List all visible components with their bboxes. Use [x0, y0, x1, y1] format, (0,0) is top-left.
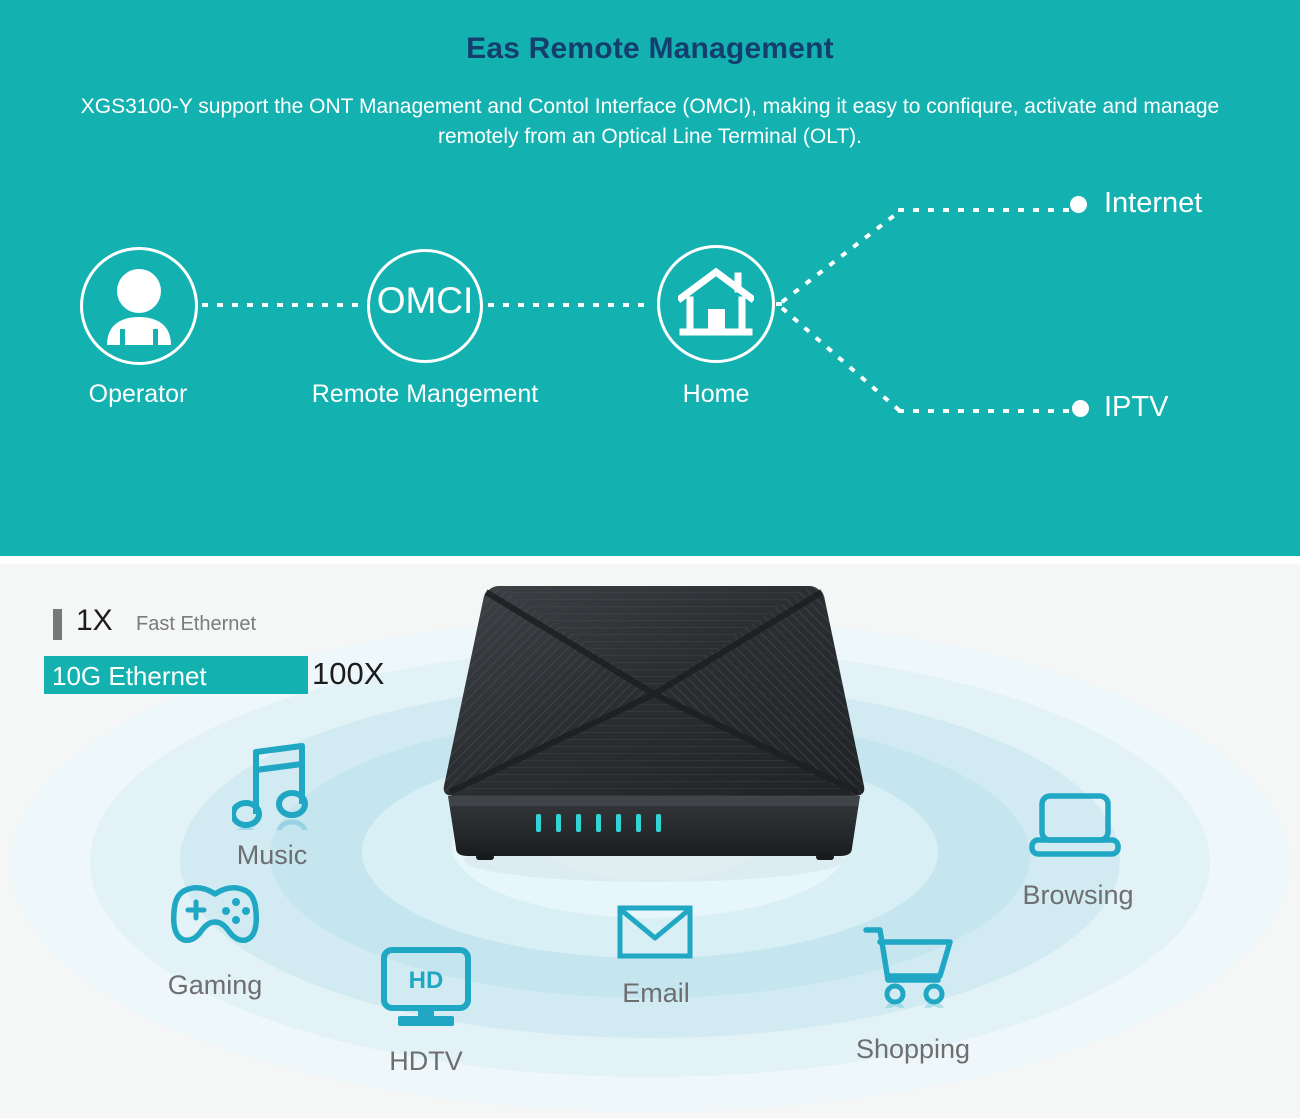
router-device-image — [404, 564, 904, 884]
feature-email[interactable]: Email — [616, 902, 716, 1022]
ten-g-ethernet-name: 10G Ethernet — [52, 661, 207, 692]
page-title: Eas Remote Management — [0, 32, 1300, 66]
hdtv-label: HDTV — [364, 1046, 488, 1077]
omci-label: OMCI — [367, 280, 483, 322]
person-icon — [102, 267, 176, 347]
speed-row-10g-ethernet: 10G Ethernet 100X — [44, 656, 464, 698]
envelope-icon — [616, 902, 694, 962]
feature-browsing[interactable]: Browsing — [1028, 792, 1128, 922]
fast-ethernet-bar — [53, 609, 62, 640]
gamepad-icon — [170, 882, 260, 946]
house-icon — [678, 267, 754, 341]
remote-management-label: Remote Mangement — [275, 380, 575, 409]
shopping-label: Shopping — [840, 1034, 986, 1065]
hd-badge: HD — [409, 967, 444, 994]
email-label: Email — [600, 978, 712, 1009]
ten-g-ethernet-multiplier: 100X — [312, 656, 384, 692]
feature-gaming[interactable]: Gaming — [170, 882, 270, 1002]
feature-music[interactable]: Music — [232, 742, 332, 862]
browsing-label: Browsing — [1002, 880, 1154, 911]
home-network-panel: 1X Fast Ethernet 10G Ethernet 100X — [0, 564, 1300, 1118]
operator-label: Operator — [38, 380, 238, 409]
remote-management-diagram: Operator OMCI Remote Mangement — [0, 170, 1300, 450]
diagram-node-operator[interactable] — [80, 247, 198, 365]
diagram-node-omci[interactable]: OMCI — [367, 249, 483, 363]
feature-hdtv[interactable]: HD HDTV — [378, 944, 478, 1074]
iptv-label: IPTV — [1104, 391, 1168, 424]
page-root: Eas Remote Management XGS3100-Y support … — [0, 0, 1300, 1118]
fast-ethernet-multiplier: 1X — [76, 604, 113, 638]
remote-management-panel: Eas Remote Management XGS3100-Y support … — [0, 0, 1300, 556]
gaming-label: Gaming — [144, 970, 286, 1001]
shopping-cart-icon — [862, 924, 954, 1008]
fast-ethernet-name: Fast Ethernet — [136, 613, 256, 636]
iptv-dot-icon — [1072, 400, 1089, 417]
speed-row-fast-ethernet: 1X Fast Ethernet — [44, 604, 464, 644]
feature-shopping[interactable]: Shopping — [862, 924, 962, 1054]
speed-comparison-chart: 1X Fast Ethernet 10G Ethernet 100X — [44, 604, 464, 698]
tv-icon: HD — [378, 944, 474, 1030]
laptop-icon — [1028, 792, 1122, 858]
diagram-node-home[interactable] — [657, 245, 775, 363]
home-label: Home — [616, 380, 816, 409]
music-label: Music — [210, 840, 334, 871]
internet-label: Internet — [1104, 187, 1202, 220]
internet-dot-icon — [1070, 196, 1087, 213]
page-subtitle: XGS3100-Y support the ONT Management and… — [50, 92, 1250, 152]
music-note-icon — [232, 742, 312, 830]
